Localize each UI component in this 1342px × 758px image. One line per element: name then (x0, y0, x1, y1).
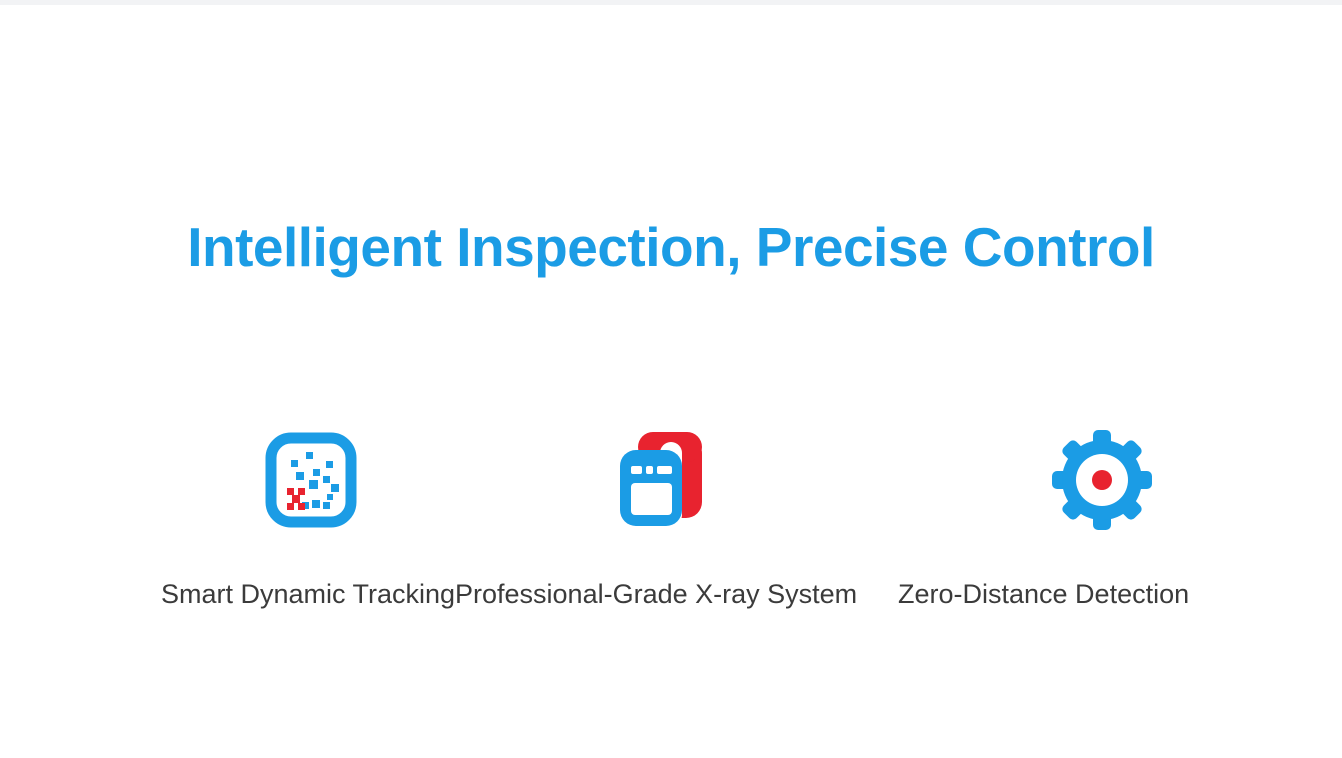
dot-matrix-tracking-icon (265, 432, 357, 533)
feature-icon-wrapper (1026, 430, 1178, 534)
slide-canvas: Intelligent Inspection, Precise Control (0, 0, 1342, 758)
layered-window-xray-icon (612, 428, 712, 537)
feature-item-zero-distance-detection[interactable]: Zero-Distance Detection (898, 430, 1178, 610)
page-title: Intelligent Inspection, Precise Control (0, 216, 1342, 279)
feature-row: Smart Dynamic Tracking (0, 430, 1342, 630)
feature-label: Smart Dynamic Tracking (161, 578, 401, 610)
feature-icon-wrapper (221, 430, 401, 534)
feature-label: Professional-Grade X-ray System (455, 578, 835, 610)
feature-item-smart-dynamic-tracking[interactable]: Smart Dynamic Tracking (161, 430, 401, 610)
gear-target-icon (1050, 428, 1154, 537)
feature-label: Zero-Distance Detection (898, 578, 1178, 610)
slide-top-edge (0, 0, 1342, 5)
feature-item-professional-grade-xray-system[interactable]: Professional-Grade X-ray System (455, 430, 835, 610)
feature-icon-wrapper (489, 430, 835, 534)
